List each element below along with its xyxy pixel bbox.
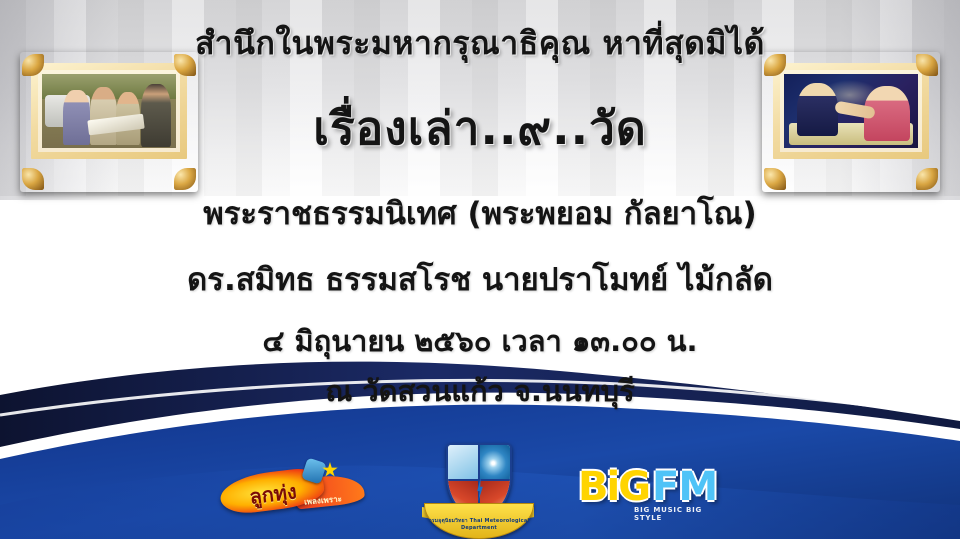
poster-speaker: พระราชธรรมนิเทศ (พระพยอม กัลยาโณ) xyxy=(0,188,960,238)
frame-corner-ornament-icon xyxy=(22,168,44,190)
crest-quadrant-cyclone xyxy=(479,445,510,480)
bigfm-wordmark: BiGFM xyxy=(578,464,717,510)
frame-corner-ornament-icon xyxy=(764,168,786,190)
crest-ribbon-text: กรมอุตุนิยมวิทยา Thai Meteorological Dep… xyxy=(425,517,533,531)
poster-guests: ดร.สมิทธ ธรรมสโรช นายปราโมทย์ ไม้กลัด xyxy=(0,254,960,304)
poster-root: สำนึกในพระมหากรุณาธิคุณ หาที่สุดมิได้ เร… xyxy=(0,0,960,539)
crest-ribbon: กรมอุตุนิยมวิทยา Thai Meteorological Dep… xyxy=(424,503,534,539)
bigfm-logo: BiGFM BIG MUSIC BIG STYLE xyxy=(578,464,728,520)
frame-corner-ornament-icon xyxy=(916,168,938,190)
bigfm-tagline: BIG MUSIC BIG STYLE xyxy=(634,506,728,522)
poster-title: เรื่องเล่า..๙..วัด xyxy=(0,92,960,165)
bigfm-big-text: BiG xyxy=(578,464,649,510)
frame-corner-ornament-icon xyxy=(174,168,196,190)
poster-datetime: ๔ มิถุนายน ๒๕๖๐ เวลา ๑๓.๐๐ น. xyxy=(0,318,960,364)
crest-divider-horizontal xyxy=(448,479,510,481)
meteorological-crest-logo: กรมอุตุนิยมวิทยา Thai Meteorological Dep… xyxy=(424,443,532,539)
bigfm-fm-text: FM xyxy=(652,464,717,510)
crest-quadrant-clouds xyxy=(448,445,479,480)
poster-kicker: สำนึกในพระมหากรุณาธิคุณ หาที่สุดมิได้ xyxy=(0,18,960,69)
poster-venue: ณ วัดสวนแก้ว จ.นนทบุรี xyxy=(0,368,960,414)
lukthung-logo: ลูกทุ่ง เพลงเพราะ xyxy=(216,462,366,522)
